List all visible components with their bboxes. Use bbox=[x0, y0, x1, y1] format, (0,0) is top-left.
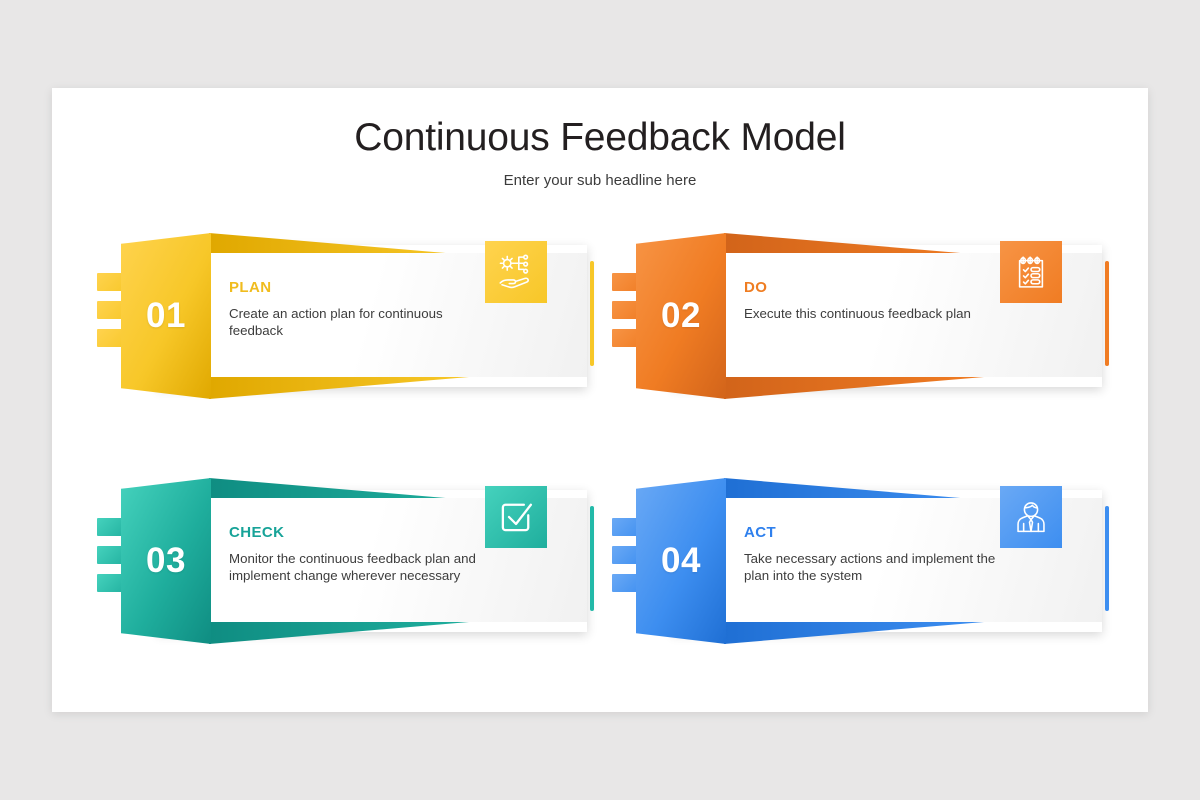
checkbox-checked-icon bbox=[485, 486, 547, 548]
step-heading: CHECK bbox=[229, 524, 284, 541]
ribbon-top bbox=[724, 478, 984, 500]
step-heading: PLAN bbox=[229, 279, 271, 296]
step-heading: ACT bbox=[744, 524, 776, 541]
ribbon-bottom bbox=[209, 377, 469, 399]
step-number: 04 bbox=[636, 478, 726, 644]
step-card-01[interactable]: 01 PLAN Create an action plan for contin… bbox=[97, 231, 597, 401]
step-card-03[interactable]: 03 CHECK Monitor the continuous feedback… bbox=[97, 476, 597, 646]
step-body: Monitor the continuous feedback plan and… bbox=[229, 550, 481, 585]
slide-canvas: Continuous Feedback Model Enter your sub… bbox=[52, 88, 1148, 712]
businessperson-icon bbox=[1000, 486, 1062, 548]
ribbon-bottom bbox=[724, 622, 984, 644]
step-body: Execute this continuous feedback plan bbox=[744, 305, 996, 322]
step-number: 03 bbox=[121, 478, 211, 644]
accent-bar bbox=[590, 261, 594, 366]
step-number: 02 bbox=[636, 233, 726, 399]
step-card-04[interactable]: 04 ACT Take necessary actions and implem… bbox=[612, 476, 1112, 646]
step-body: Create an action plan for continuous fee… bbox=[229, 305, 481, 340]
step-heading: DO bbox=[744, 279, 767, 296]
step-card-02[interactable]: 02 DO Execute this continuous feedback p… bbox=[612, 231, 1112, 401]
accent-bar bbox=[1105, 506, 1109, 611]
gear-network-on-hand-icon bbox=[485, 241, 547, 303]
accent-bar bbox=[1105, 261, 1109, 366]
accent-bar bbox=[590, 506, 594, 611]
ribbon-bottom bbox=[724, 377, 984, 399]
clipboard-checklist-icon bbox=[1000, 241, 1062, 303]
ribbon-top bbox=[209, 478, 469, 500]
step-number: 01 bbox=[121, 233, 211, 399]
ribbon-bottom bbox=[209, 622, 469, 644]
step-body: Take necessary actions and implement the… bbox=[744, 550, 996, 585]
page-subtitle: Enter your sub headline here bbox=[52, 172, 1148, 189]
page-title: Continuous Feedback Model bbox=[52, 116, 1148, 160]
